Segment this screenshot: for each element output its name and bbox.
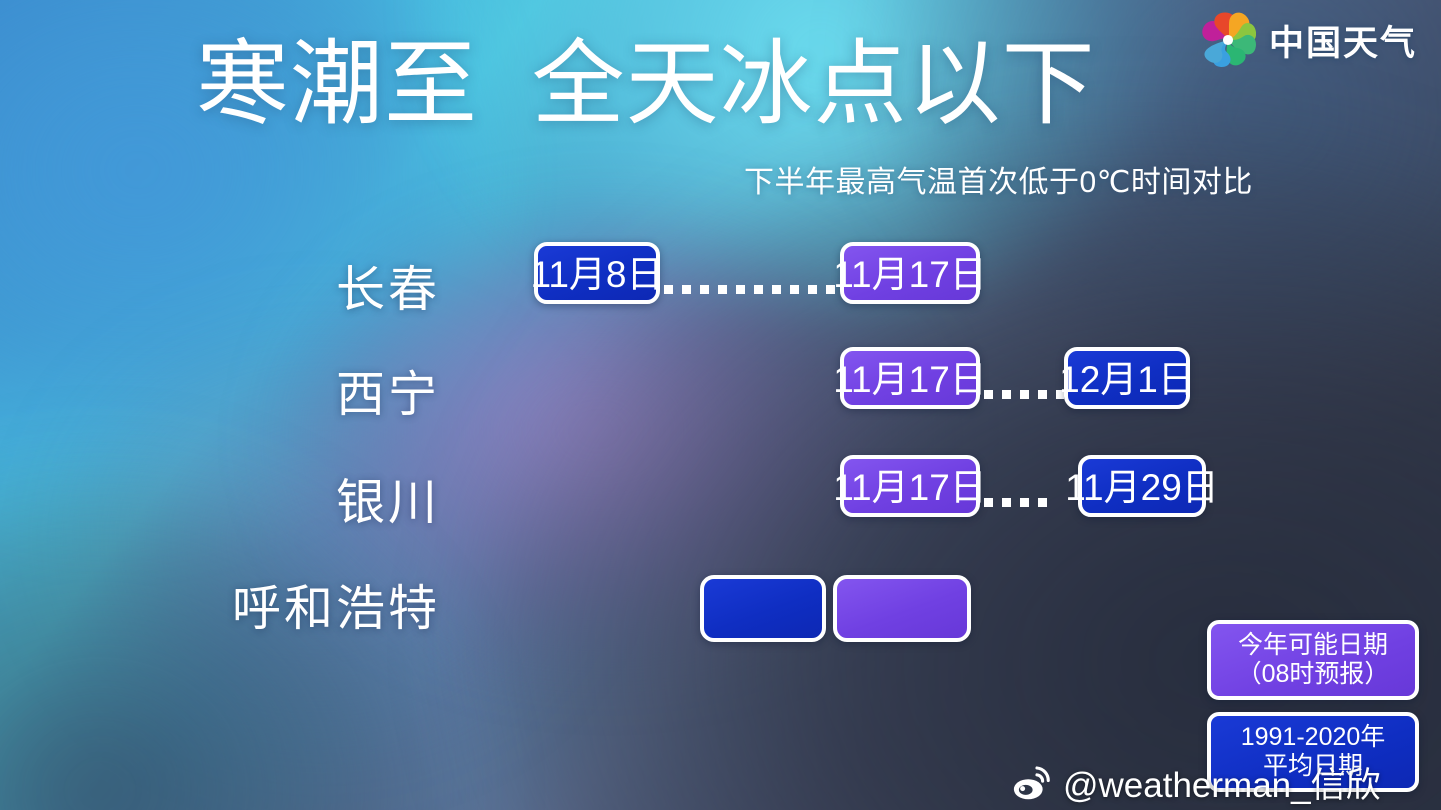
watermark-handle: @weatherman_信欣 — [1063, 757, 1381, 808]
connector-dots — [984, 390, 1064, 399]
watermark: @weatherman_信欣 — [1012, 757, 1381, 808]
legend-forecast-line2: （08时预报） — [1213, 660, 1413, 689]
date-chip-yinchuan-forecast: 11月17日 — [840, 455, 980, 517]
legend-normal-line1: 1991-2020年 — [1213, 723, 1413, 752]
city-label-yinchuan: 银川 — [0, 455, 440, 551]
comparison-chart: 长春 11月8日 11月17日 西宁 11月17日 12月1日 银川 11月17… — [0, 236, 1441, 666]
date-chip-yinchuan-normal: 11月29日 — [1078, 455, 1206, 517]
date-chip-hohhot-normal — [700, 575, 826, 642]
city-label-xining: 西宁 — [0, 347, 440, 443]
date-chip-xining-forecast: 11月17日 — [840, 347, 980, 409]
legend-item-forecast: 今年可能日期 （08时预报） — [1207, 620, 1419, 700]
connector-dots — [984, 498, 1056, 507]
table-row: 长春 11月8日 11月17日 — [0, 242, 1441, 338]
connector-dots — [664, 285, 840, 294]
table-row: 西宁 11月17日 12月1日 — [0, 347, 1441, 443]
weather-swirl-logo-icon — [1200, 12, 1256, 68]
brand-logo-label: 中国天气 — [1269, 15, 1417, 66]
page-subtitle: 下半年最高气温首次低于0℃时间对比 — [744, 157, 1253, 201]
weibo-icon — [1012, 763, 1052, 803]
table-row: 银川 11月17日 11月29日 — [0, 455, 1441, 551]
date-chip-hohhot-forecast — [833, 575, 971, 642]
date-chip-changchun-forecast: 11月17日 — [840, 242, 980, 304]
brand-logo: 中国天气 — [1200, 12, 1417, 68]
city-label-changchun: 长春 — [0, 242, 440, 338]
date-chip-xining-normal: 12月1日 — [1064, 347, 1190, 409]
legend-forecast-line1: 今年可能日期 — [1213, 631, 1413, 660]
header: 寒潮至 全天冰点以下 下半年最高气温首次低于0℃时间对比 中国天气 — [0, 0, 1441, 210]
city-label-hohhot: 呼和浩特 — [0, 561, 440, 657]
date-chip-changchun-normal: 11月8日 — [534, 242, 660, 304]
page-title: 寒潮至 全天冰点以下 — [196, 34, 1096, 134]
